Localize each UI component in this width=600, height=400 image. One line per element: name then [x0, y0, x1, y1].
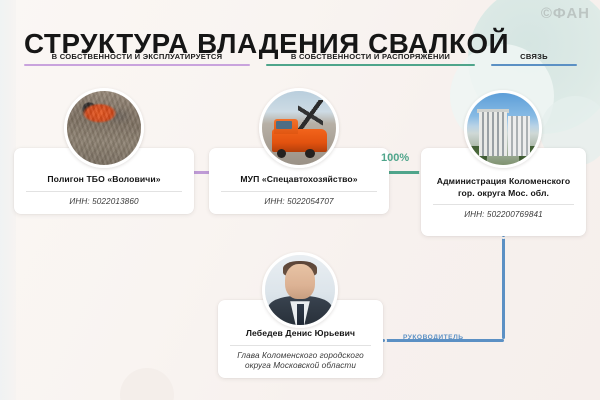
node-inn: ИНН: 5022013860 — [61, 197, 146, 208]
legend-color-rule — [491, 64, 577, 66]
building-photo — [467, 93, 539, 165]
watermark: ©ФАН — [541, 5, 590, 22]
node-inn: ИНН: 502200769841 — [456, 210, 551, 221]
node-name: Лебедев Денис Юрьевич — [238, 328, 363, 340]
legend-color-rule — [266, 64, 475, 66]
connector-label-ownership-percent: 100% — [381, 152, 409, 164]
legend-item-label: В СОБСТВЕННОСТИ И ЭКСПЛУАТИРУЕТСЯ — [24, 52, 250, 64]
legend-item-label: В СОБСТВЕННОСТИ И РАСПОРЯЖЕНИИ — [266, 52, 475, 64]
node-avatar-truck-photo — [259, 88, 339, 168]
node-avatar-portrait-photo — [262, 252, 338, 328]
truck-photo — [262, 91, 336, 165]
infographic-canvas: ©ФАН СТРУКТУРА ВЛАДЕНИЯ СВАЛКОЙ В СОБСТВ… — [0, 0, 600, 400]
node-position: Глава Коломенского городского округа Мос… — [218, 351, 383, 372]
connector-admin-to-lebedev — [380, 232, 508, 344]
node-divider — [433, 204, 574, 205]
node-avatar-landfill-photo — [64, 88, 144, 168]
node-inn: ИНН: 5022054707 — [256, 197, 341, 208]
connector-label-head-of-district: РУКОВОДИТЕЛЬ — [403, 334, 463, 341]
node-name: МУП «Спецавтохозяйство» — [232, 174, 365, 186]
landfill-photo — [67, 91, 141, 165]
legend: В СОБСТВЕННОСТИ И ЭКСПЛУАТИРУЕТСЯ В СОБС… — [24, 52, 577, 69]
node-name: Администрация Коломенского гор. округа М… — [421, 176, 586, 199]
node-name: Полигон ТБО «Воловичи» — [39, 174, 168, 186]
legend-item-ownership-operated: В СОБСТВЕННОСТИ И ЭКСПЛУАТИРУЕТСЯ — [24, 52, 250, 69]
node-avatar-building-photo — [464, 90, 542, 168]
node-divider — [230, 345, 371, 346]
legend-item-connection: СВЯЗЬ — [491, 52, 577, 69]
portrait-photo — [265, 255, 335, 325]
legend-item-label: СВЯЗЬ — [491, 52, 577, 64]
node-divider — [26, 191, 182, 192]
node-divider — [221, 191, 377, 192]
legend-color-rule — [24, 64, 250, 66]
legend-item-ownership-disposal: В СОБСТВЕННОСТИ И РАСПОРЯЖЕНИИ — [266, 52, 475, 69]
